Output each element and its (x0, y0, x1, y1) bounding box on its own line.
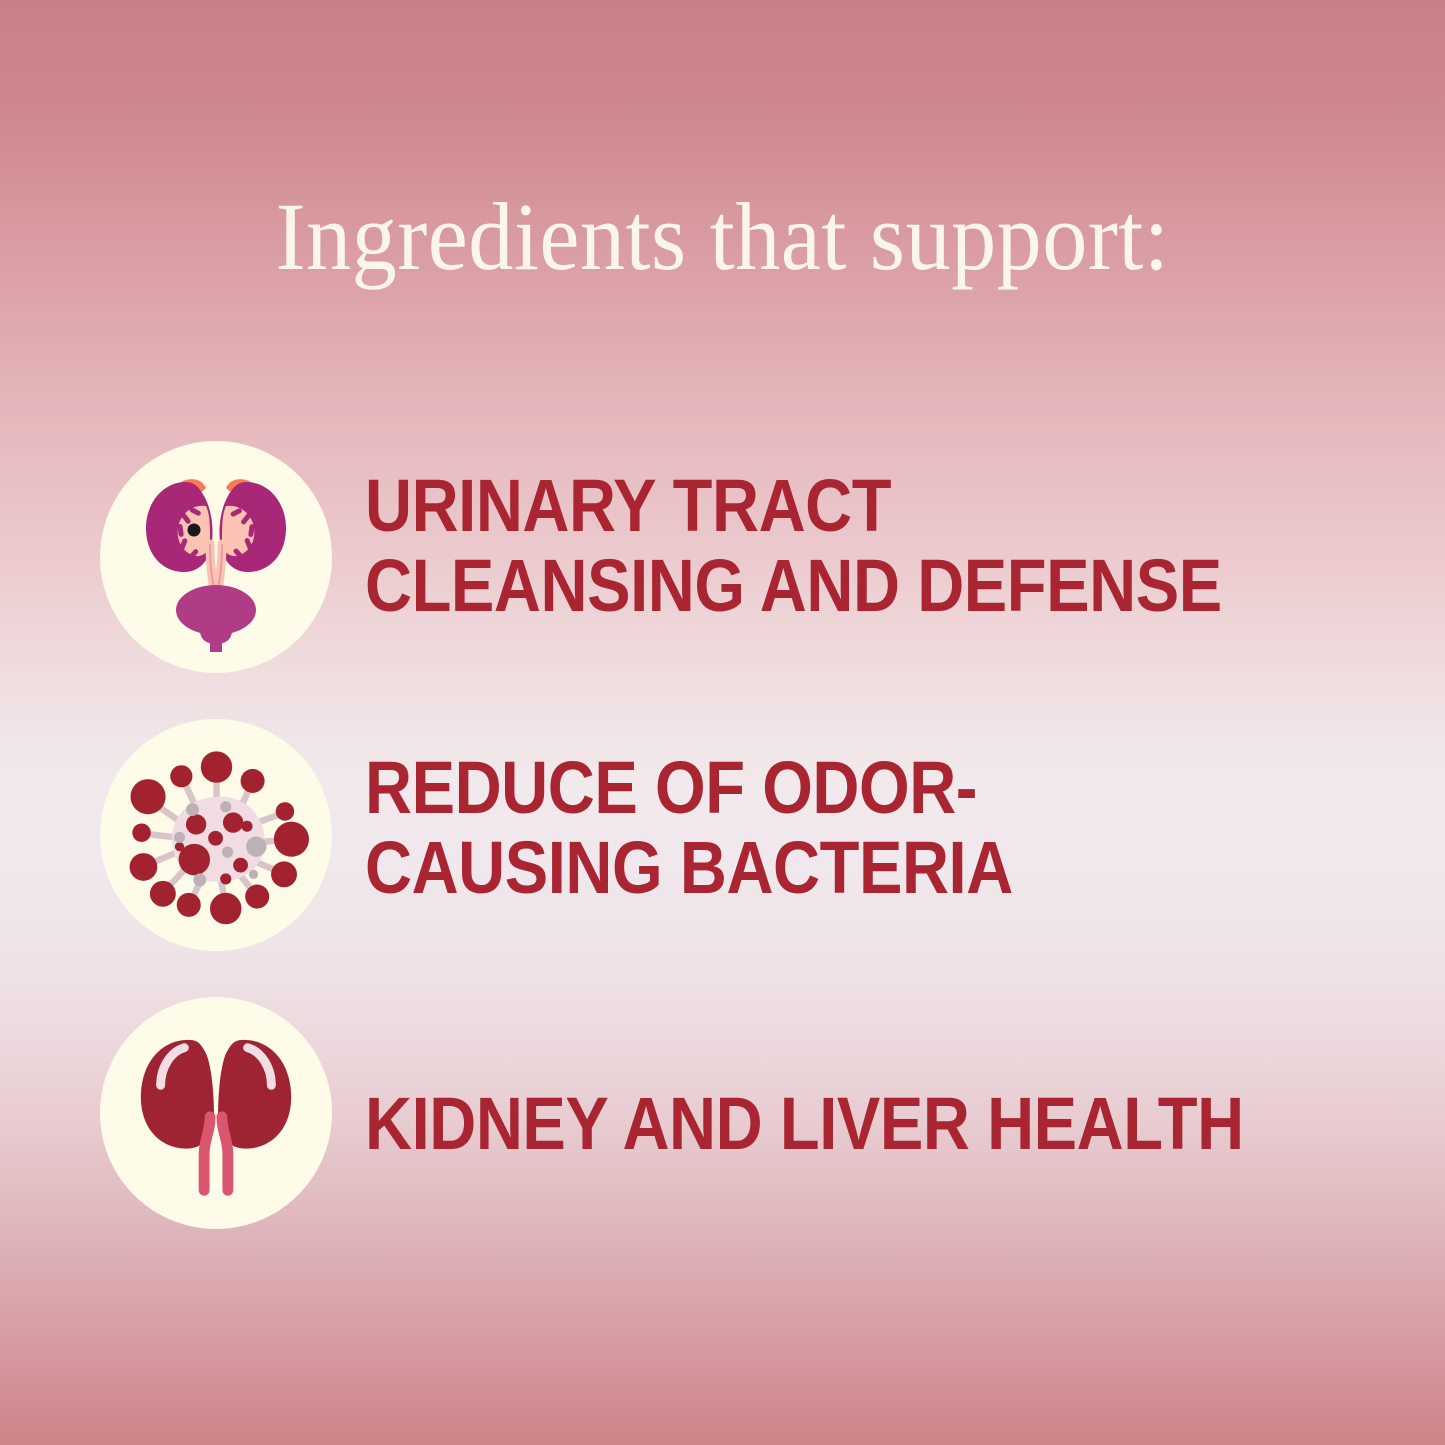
bullet-label: KIDNEY AND LIVER HEALTH (365, 1084, 1263, 1164)
bullet-line: CLEANSING AND DEFENSE (365, 546, 1263, 626)
bullet-line: KIDNEY AND LIVER HEALTH (365, 1084, 1263, 1164)
list-item: KIDNEY AND LIVER HEALTH (0, 974, 1445, 1252)
bacteria-icon (100, 719, 332, 951)
kidneys-icon (100, 997, 332, 1229)
bullet-label: REDUCE OF ODOR- CAUSING BACTERIA (365, 748, 1263, 908)
benefit-list: URINARY TRACT CLEANSING AND DEFENSE (0, 418, 1445, 1252)
bullet-line: REDUCE OF ODOR- (365, 748, 1263, 828)
bullet-line: CAUSING BACTERIA (365, 828, 1263, 908)
list-item: URINARY TRACT CLEANSING AND DEFENSE (0, 418, 1445, 696)
ingredient-benefits-poster: Ingredients that support: (0, 0, 1445, 1445)
page-title: Ingredients that support: (43, 188, 1401, 286)
urinary-tract-icon (100, 441, 332, 673)
bullet-line: URINARY TRACT (365, 466, 1263, 546)
list-item: REDUCE OF ODOR- CAUSING BACTERIA (0, 696, 1445, 974)
bullet-label: URINARY TRACT CLEANSING AND DEFENSE (365, 466, 1263, 626)
